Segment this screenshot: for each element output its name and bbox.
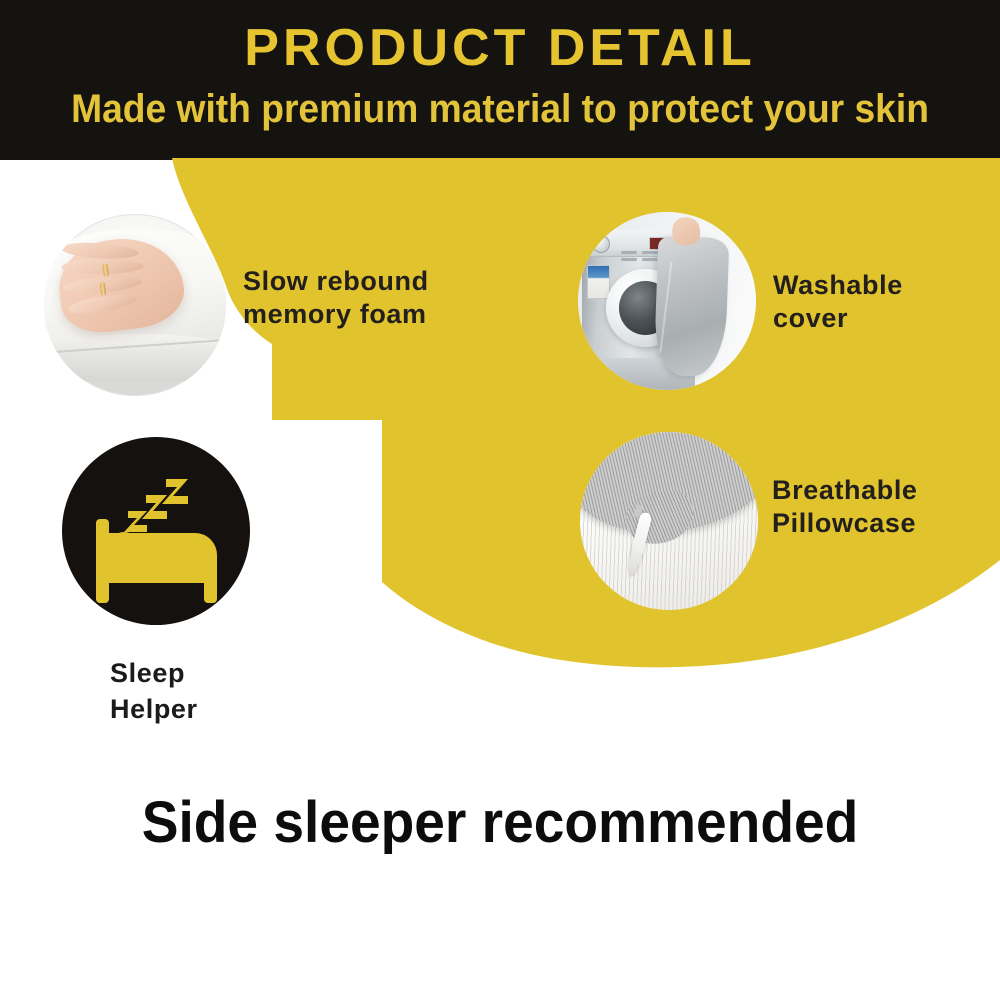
feature-label-breathable-pillowcase: Breathable Pillowcase <box>772 474 918 540</box>
ring-icon <box>102 264 109 278</box>
washer-energy-label <box>587 265 610 299</box>
bottom-headline: Side sleeper recommended <box>25 790 975 856</box>
washer-button <box>642 258 658 261</box>
finger-shape <box>61 242 138 261</box>
sleep-helper-badge <box>62 437 250 625</box>
washer-button <box>642 251 658 254</box>
feature-label-slow-rebound-memory-foam: Slow rebound memory foam <box>243 265 429 331</box>
header-band: PRODUCT DETAIL Made with premium materia… <box>0 0 1000 160</box>
cloth-fold-line <box>659 261 672 352</box>
sleep-helper-caption: Sleep Helper <box>110 655 198 727</box>
washer-button <box>621 251 637 254</box>
product-detail-infographic: PRODUCT DETAIL Made with premium materia… <box>0 0 1000 1000</box>
bed-sleeping-zzz-icon <box>96 479 217 603</box>
washer-button <box>621 258 637 261</box>
feature-image-washable-cover <box>578 212 756 390</box>
header-subtitle: Made with premium material to protect yo… <box>35 86 965 132</box>
page-title: PRODUCT DETAIL <box>0 20 1000 76</box>
feature-label-washable-cover: Washable cover <box>773 269 903 335</box>
ring-icon <box>99 282 106 296</box>
feature-image-breathable-pillowcase <box>580 432 758 610</box>
feature-image-slow-rebound-memory-foam <box>44 214 226 396</box>
